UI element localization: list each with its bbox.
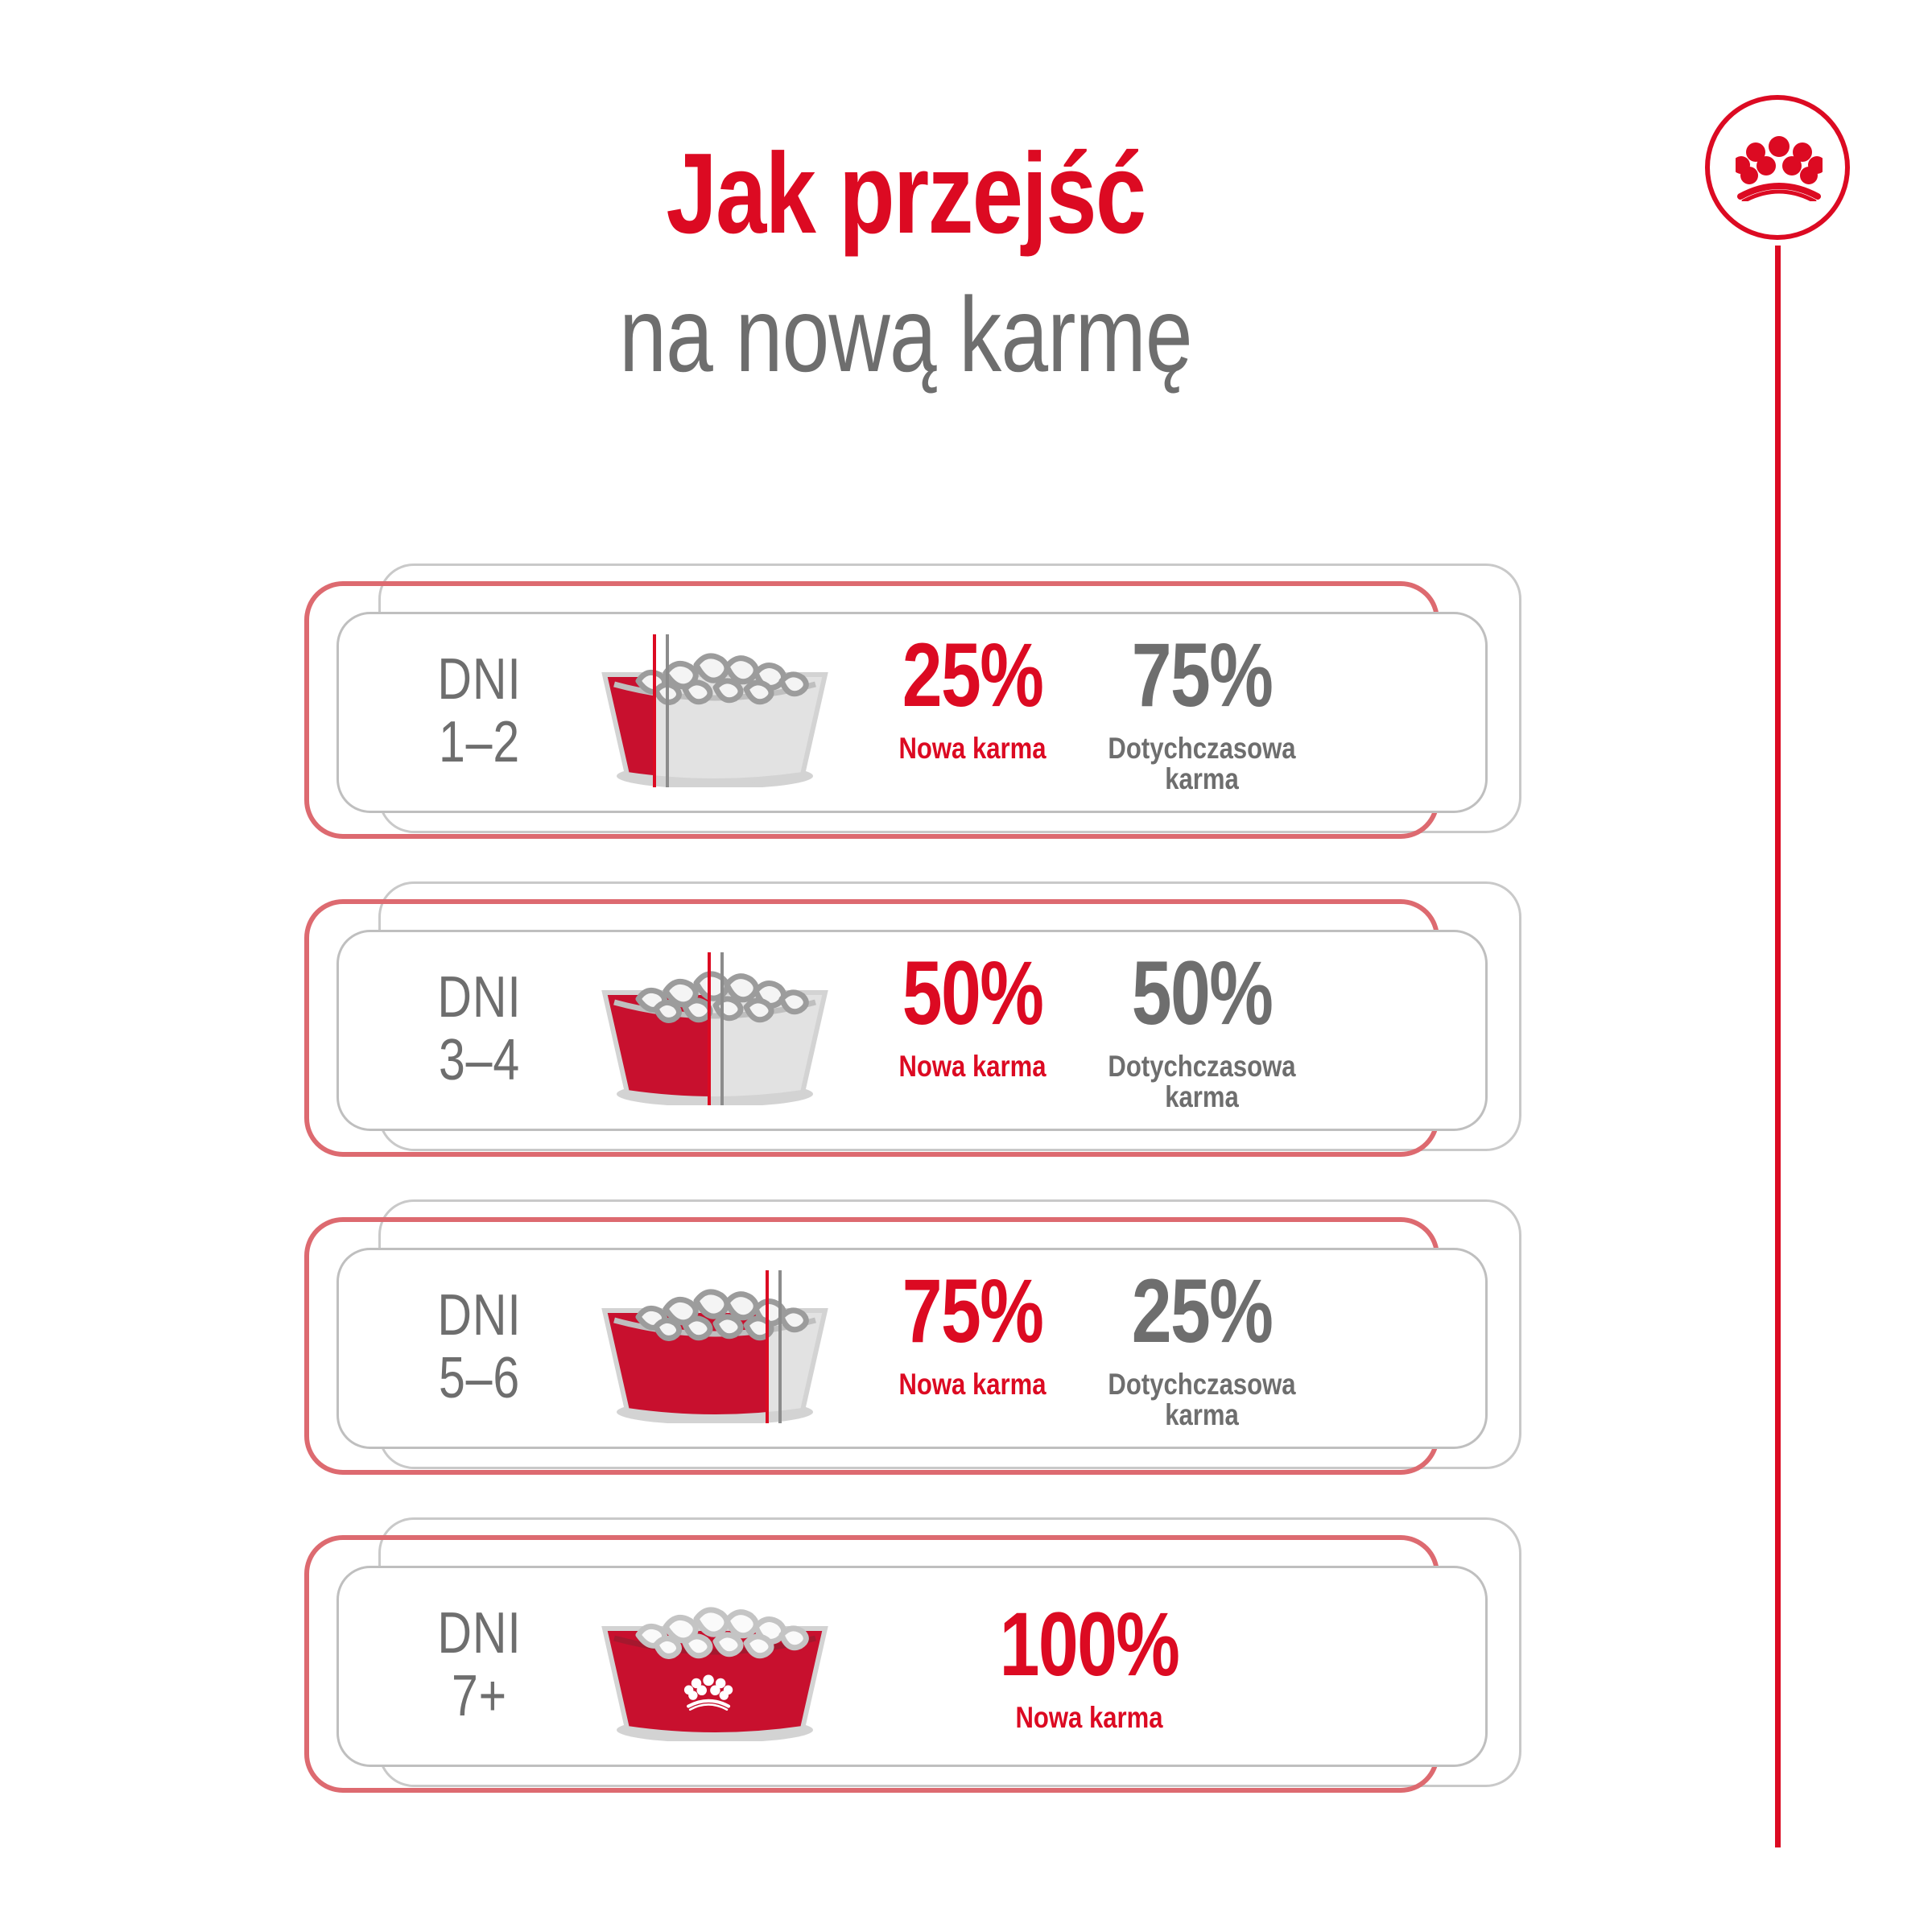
dog-bowl-75-icon	[582, 1270, 848, 1423]
old-food-label: Dotychczasowa karma	[1094, 1051, 1311, 1113]
dog-bowl-100-icon	[582, 1588, 848, 1741]
old-food-stat: 25% Dotychczasowa karma	[1073, 1266, 1331, 1430]
new-food-stat: 75% Nowa karma	[872, 1266, 1073, 1400]
day-range: 3–4	[395, 1027, 563, 1093]
day-label: DNI 7+	[377, 1604, 582, 1729]
new-food-percent: 75%	[892, 1266, 1053, 1356]
new-food-label: Nowa karma	[947, 1703, 1232, 1733]
day-range: 5–6	[395, 1345, 563, 1411]
new-food-percent: 25%	[892, 630, 1053, 720]
new-food-stat: 100% Nowa karma	[920, 1600, 1258, 1733]
bowl-illustration	[582, 612, 848, 813]
schedule-row: DNI 7+	[0, 1517, 1932, 1856]
day-word: DNI	[395, 968, 563, 1027]
old-food-label: Dotychczasowa karma	[1094, 1369, 1311, 1430]
day-label: DNI 3–4	[377, 968, 582, 1093]
old-food-percent: 75%	[1099, 630, 1305, 720]
old-food-stat: 75% Dotychczasowa karma	[1073, 630, 1331, 795]
day-range: 1–2	[395, 709, 563, 775]
day-label: DNI 5–6	[377, 1286, 582, 1411]
old-food-stat: 50% Dotychczasowa karma	[1073, 948, 1331, 1113]
new-food-label: Nowa karma	[888, 1369, 1057, 1400]
transition-schedule: DNI 1–2	[0, 0, 1932, 1932]
dog-bowl-25-icon	[582, 634, 848, 787]
schedule-row: DNI 1–2	[0, 563, 1932, 902]
schedule-row: DNI 3–4	[0, 881, 1932, 1220]
new-food-label: Nowa karma	[888, 733, 1057, 764]
dog-bowl-50-icon	[582, 952, 848, 1105]
bowl-illustration	[582, 1566, 848, 1767]
day-range: 7+	[395, 1663, 563, 1729]
day-word: DNI	[395, 1604, 563, 1663]
old-food-label: Dotychczasowa karma	[1094, 733, 1311, 795]
new-food-percent: 50%	[892, 948, 1053, 1038]
bowl-illustration	[582, 930, 848, 1131]
new-food-stat: 50% Nowa karma	[872, 948, 1073, 1082]
day-word: DNI	[395, 1286, 563, 1345]
bowl-illustration	[582, 1248, 848, 1449]
new-food-label: Nowa karma	[888, 1051, 1057, 1082]
new-food-stat: 25% Nowa karma	[872, 630, 1073, 764]
day-word: DNI	[395, 650, 563, 709]
old-food-percent: 25%	[1099, 1266, 1305, 1356]
old-food-percent: 50%	[1099, 948, 1305, 1038]
schedule-row: DNI 5–6	[0, 1199, 1932, 1538]
day-label: DNI 1–2	[377, 650, 582, 775]
new-food-percent: 100%	[954, 1600, 1224, 1690]
